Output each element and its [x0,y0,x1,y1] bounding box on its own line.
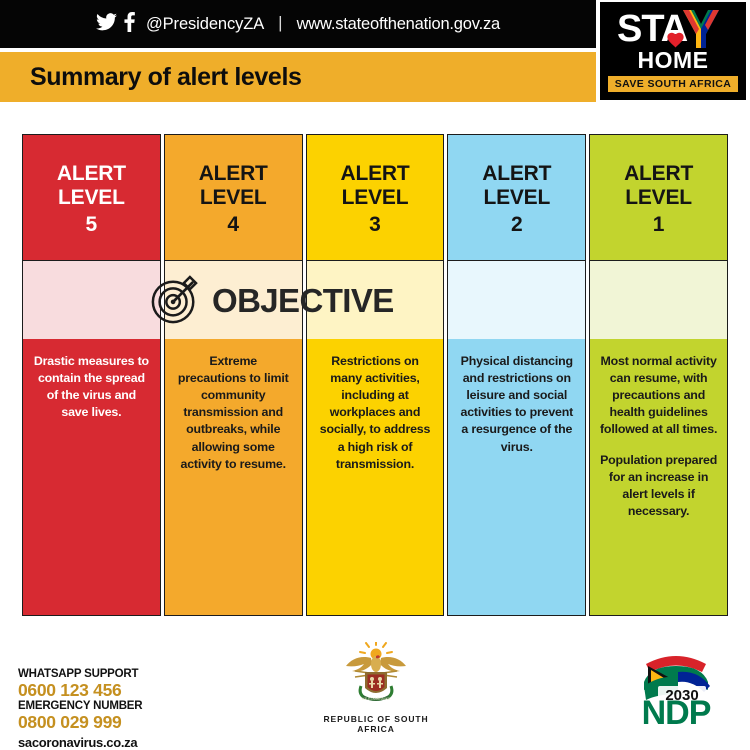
alert-level-number: 2 [511,213,523,237]
title-banner: Summary of alert levels [0,52,596,102]
objective-tint-cell-3 [306,261,445,339]
coat-of-arms-block: !KE E:/XARRA//KE REPUBLIC OF SOUTH AFRIC… [306,642,446,734]
objective-paragraph: Population prepared for an increase in a… [599,452,718,520]
stay-home-logo: STA HOME SAVE SOUTH AFRICA [600,2,746,100]
south-africa-coat-of-arms-icon: !KE E:/XARRA//KE [339,693,413,710]
infographic-page: @PresidencyZA | www.stateofthenation.gov… [0,0,750,750]
handle-separator: | [278,13,282,33]
alert-level-number: 3 [369,213,381,237]
alert-level-number: 4 [227,213,239,237]
emergency-number[interactable]: 0800 029 999 [18,713,142,733]
objective-text-cell-2: Physical distancing and restrictions on … [447,339,586,616]
objective-text-cell-4: Extreme precautions to limit community t… [164,339,303,616]
sona-website[interactable]: www.stateofthenation.gov.za [297,15,500,34]
alert-level-column-3: ALERTLEVEL3Restrictions on many activiti… [306,134,445,616]
contact-block: WHATSAPP SUPPORT 0600 123 456 EMERGENCY … [18,668,142,750]
objective-tint-cell-4 [164,261,303,339]
facebook-f-icon[interactable] [124,12,135,37]
whatsapp-label: WHATSAPP SUPPORT [18,668,142,681]
alert-label-line1: ALERT [624,162,693,186]
alert-label-line1: ALERT [340,162,409,186]
home-wordmark: HOME [638,49,709,72]
alert-level-column-1: ALERTLEVEL1Most normal activity can resu… [589,134,728,616]
stay-wordmark: STA [617,8,729,48]
coat-of-arms-caption: REPUBLIC OF SOUTH AFRICA [306,714,446,734]
ndp-logo-icon: 2030 NDP [618,713,734,730]
footer: WHATSAPP SUPPORT 0600 123 456 EMERGENCY … [0,620,750,750]
alert-label-line2: LEVEL [200,186,267,210]
objective-tint-cell-2 [447,261,586,339]
alert-levels-table: ALERTLEVEL5Drastic measures to contain t… [22,134,728,616]
alert-level-header-3: ALERTLEVEL3 [306,134,445,261]
alert-level-column-4: ALERTLEVEL4Extreme precautions to limit … [164,134,303,616]
objective-paragraph: Drastic measures to contain the spread o… [32,353,151,421]
alert-level-column-5: ALERTLEVEL5Drastic measures to contain t… [22,134,161,616]
alert-level-column-2: ALERTLEVEL2Physical distancing and restr… [447,134,586,616]
objective-text-cell-1: Most normal activity can resume, with pr… [589,339,728,616]
whatsapp-number[interactable]: 0600 123 456 [18,681,142,701]
alert-level-header-4: ALERTLEVEL4 [164,134,303,261]
objective-tint-cell-1 [589,261,728,339]
heart-icon [667,32,684,48]
alert-label-line2: LEVEL [58,186,125,210]
page-title: Summary of alert levels [30,63,302,92]
alert-label-line2: LEVEL [342,186,409,210]
social-handles: @PresidencyZA | www.stateofthenation.gov… [96,12,500,37]
objective-paragraph: Restrictions on many activities, includi… [316,353,435,473]
alert-label-line1: ALERT [199,162,268,186]
alert-label-line1: ALERT [482,162,551,186]
objective-paragraph: Physical distancing and restrictions on … [457,353,576,456]
objective-paragraph: Most normal activity can resume, with pr… [599,353,718,439]
alert-label-line1: ALERT [57,162,126,186]
twitter-bird-icon[interactable] [96,13,117,36]
save-south-africa-tagline: SAVE SOUTH AFRICA [608,76,738,92]
objective-text-cell-3: Restrictions on many activities, includi… [306,339,445,616]
coronavirus-website[interactable]: sacoronavirus.co.za [18,735,142,750]
objective-tint-cell-5 [22,261,161,339]
presidency-handle: @PresidencyZA [146,15,264,34]
ndp-logo-block: 2030 NDP [618,642,736,731]
alert-level-number: 5 [86,213,98,237]
top-social-bar: @PresidencyZA | www.stateofthenation.gov… [0,0,596,48]
alert-label-line2: LEVEL [625,186,692,210]
svg-text:!KE E:/XARRA//KE: !KE E:/XARRA//KE [362,697,391,701]
alert-level-number: 1 [653,213,665,237]
alert-level-header-5: ALERTLEVEL5 [22,134,161,261]
alert-level-header-2: ALERTLEVEL2 [447,134,586,261]
objective-text-cell-5: Drastic measures to contain the spread o… [22,339,161,616]
svg-text:NDP: NDP [642,694,711,726]
alert-level-header-1: ALERTLEVEL1 [589,134,728,261]
objective-paragraph: Extreme precautions to limit community t… [174,353,293,473]
alert-label-line2: LEVEL [483,186,550,210]
